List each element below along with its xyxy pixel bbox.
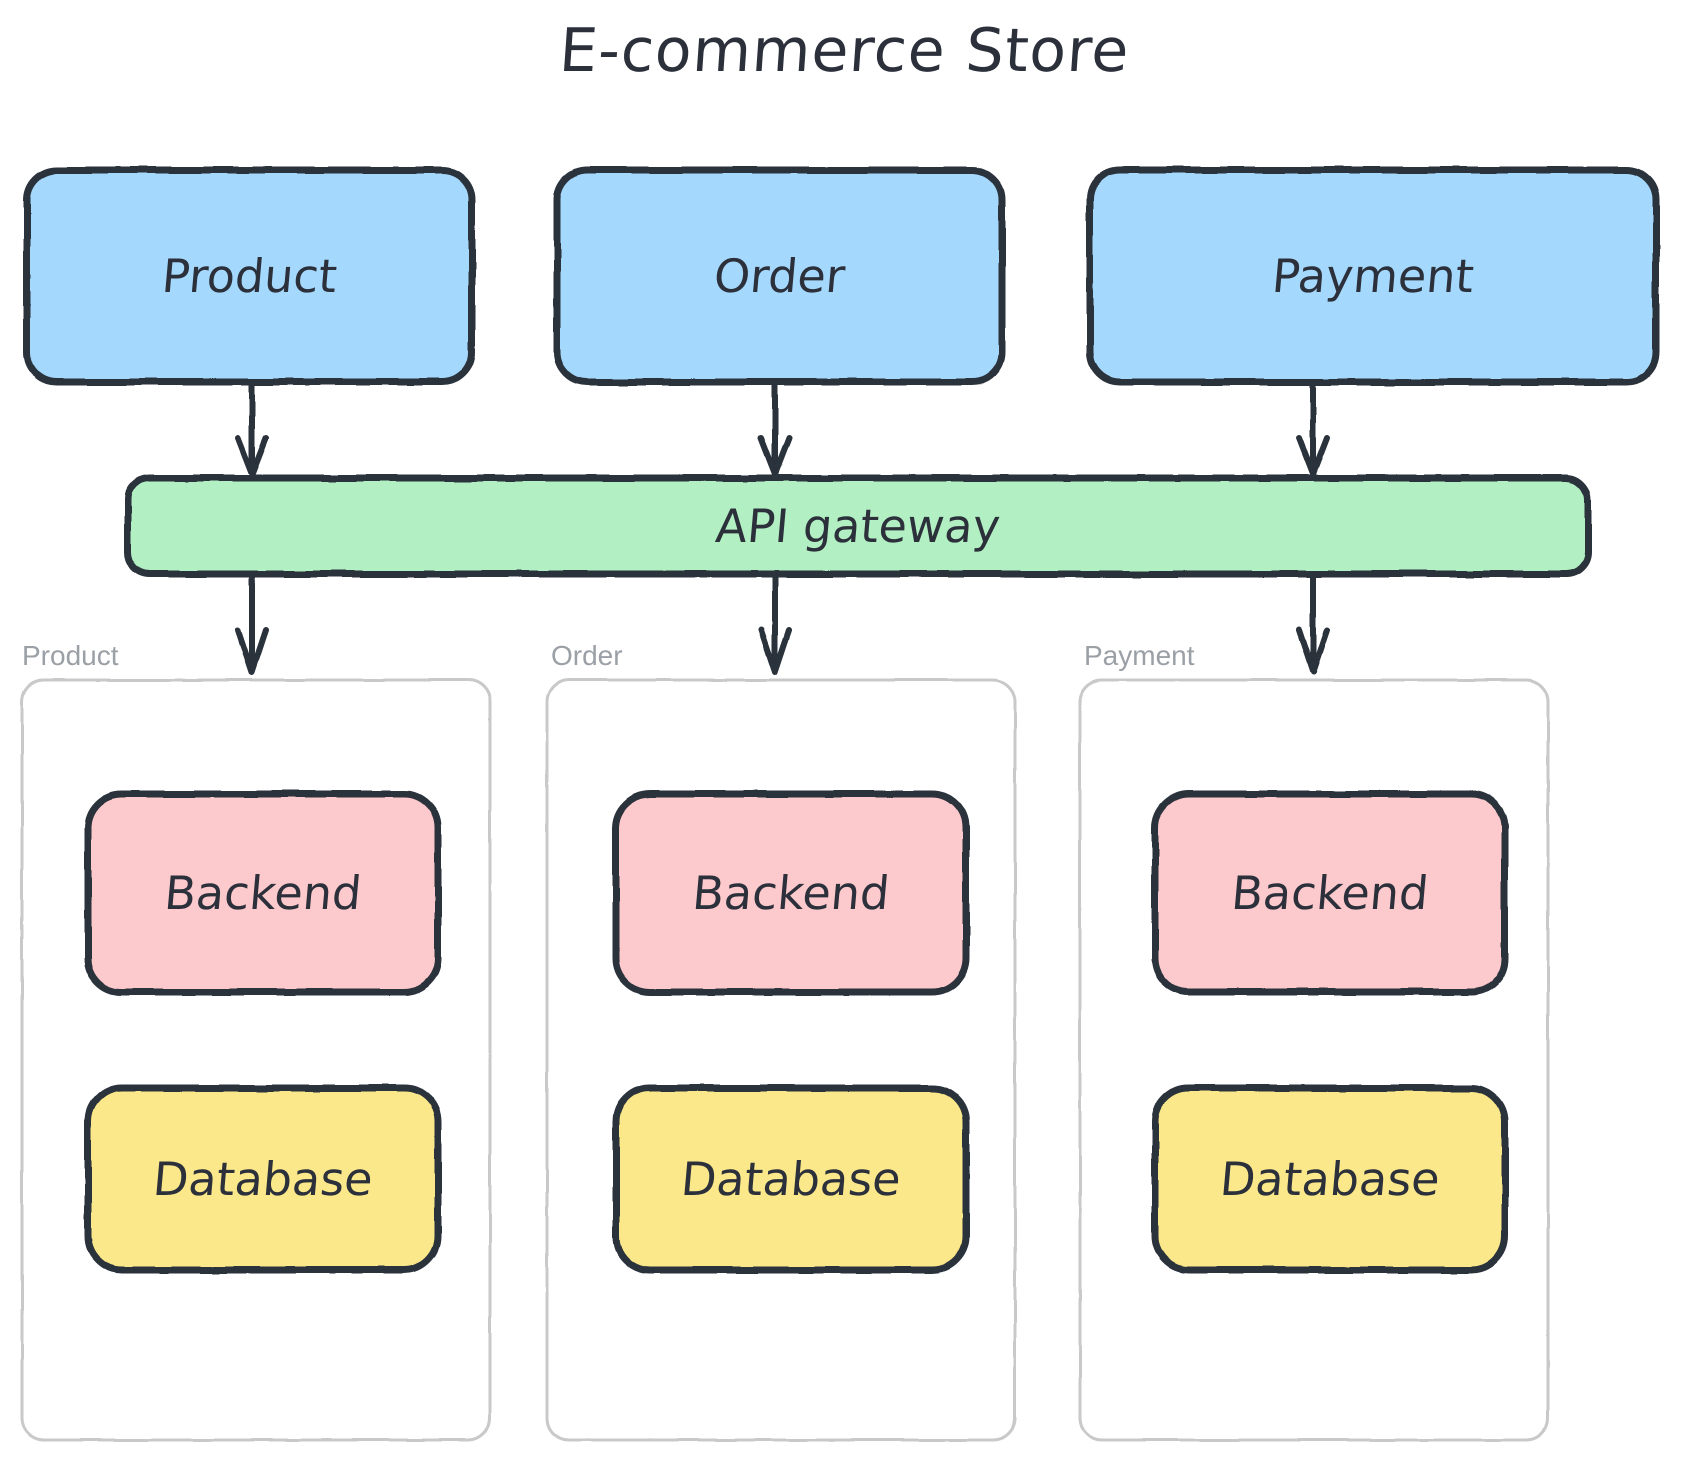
diagram-title: E-commerce Store bbox=[0, 16, 1689, 86]
node-label-payment-backend: Backend bbox=[1146, 794, 1513, 992]
edge-order-to-gateway bbox=[761, 382, 789, 474]
node-product-database[interactable]: Database bbox=[88, 1088, 438, 1270]
diagram-canvas: E-commerce Store Product Order Payment A… bbox=[0, 0, 1689, 1462]
node-label-payment-frontend: Payment bbox=[1081, 170, 1666, 382]
edge-gateway-to-product-cluster bbox=[238, 574, 266, 672]
edge-product-to-gateway bbox=[238, 382, 266, 474]
cluster-title-payment: Payment bbox=[1084, 640, 1195, 672]
cluster-title-order: Order bbox=[551, 640, 623, 672]
node-label-order-backend: Backend bbox=[607, 794, 974, 992]
node-payment-database[interactable]: Database bbox=[1155, 1088, 1505, 1270]
node-label-order-frontend: Order bbox=[548, 170, 1012, 382]
node-label-product-frontend: Product bbox=[18, 170, 482, 382]
node-payment-frontend[interactable]: Payment bbox=[1090, 170, 1656, 382]
node-label-payment-database: Database bbox=[1147, 1088, 1513, 1270]
edges-frontend-to-gateway bbox=[238, 382, 1327, 474]
node-payment-backend[interactable]: Backend bbox=[1155, 794, 1505, 992]
node-product-backend[interactable]: Backend bbox=[88, 794, 438, 992]
node-order-database[interactable]: Database bbox=[616, 1088, 966, 1270]
node-label-product-backend: Backend bbox=[79, 794, 446, 992]
node-product-frontend[interactable]: Product bbox=[27, 170, 472, 382]
node-label-order-database: Database bbox=[608, 1088, 974, 1270]
node-order-frontend[interactable]: Order bbox=[557, 170, 1002, 382]
edge-payment-to-gateway bbox=[1299, 382, 1327, 474]
edge-gateway-to-payment-cluster bbox=[1299, 574, 1327, 672]
edge-gateway-to-order-cluster bbox=[761, 574, 789, 672]
node-api-gateway[interactable]: API gateway bbox=[128, 478, 1588, 574]
node-label-product-database: Database bbox=[80, 1088, 446, 1270]
node-label-api-gateway: API gateway bbox=[124, 478, 1592, 574]
node-order-backend[interactable]: Backend bbox=[616, 794, 966, 992]
cluster-title-product: Product bbox=[22, 640, 119, 672]
